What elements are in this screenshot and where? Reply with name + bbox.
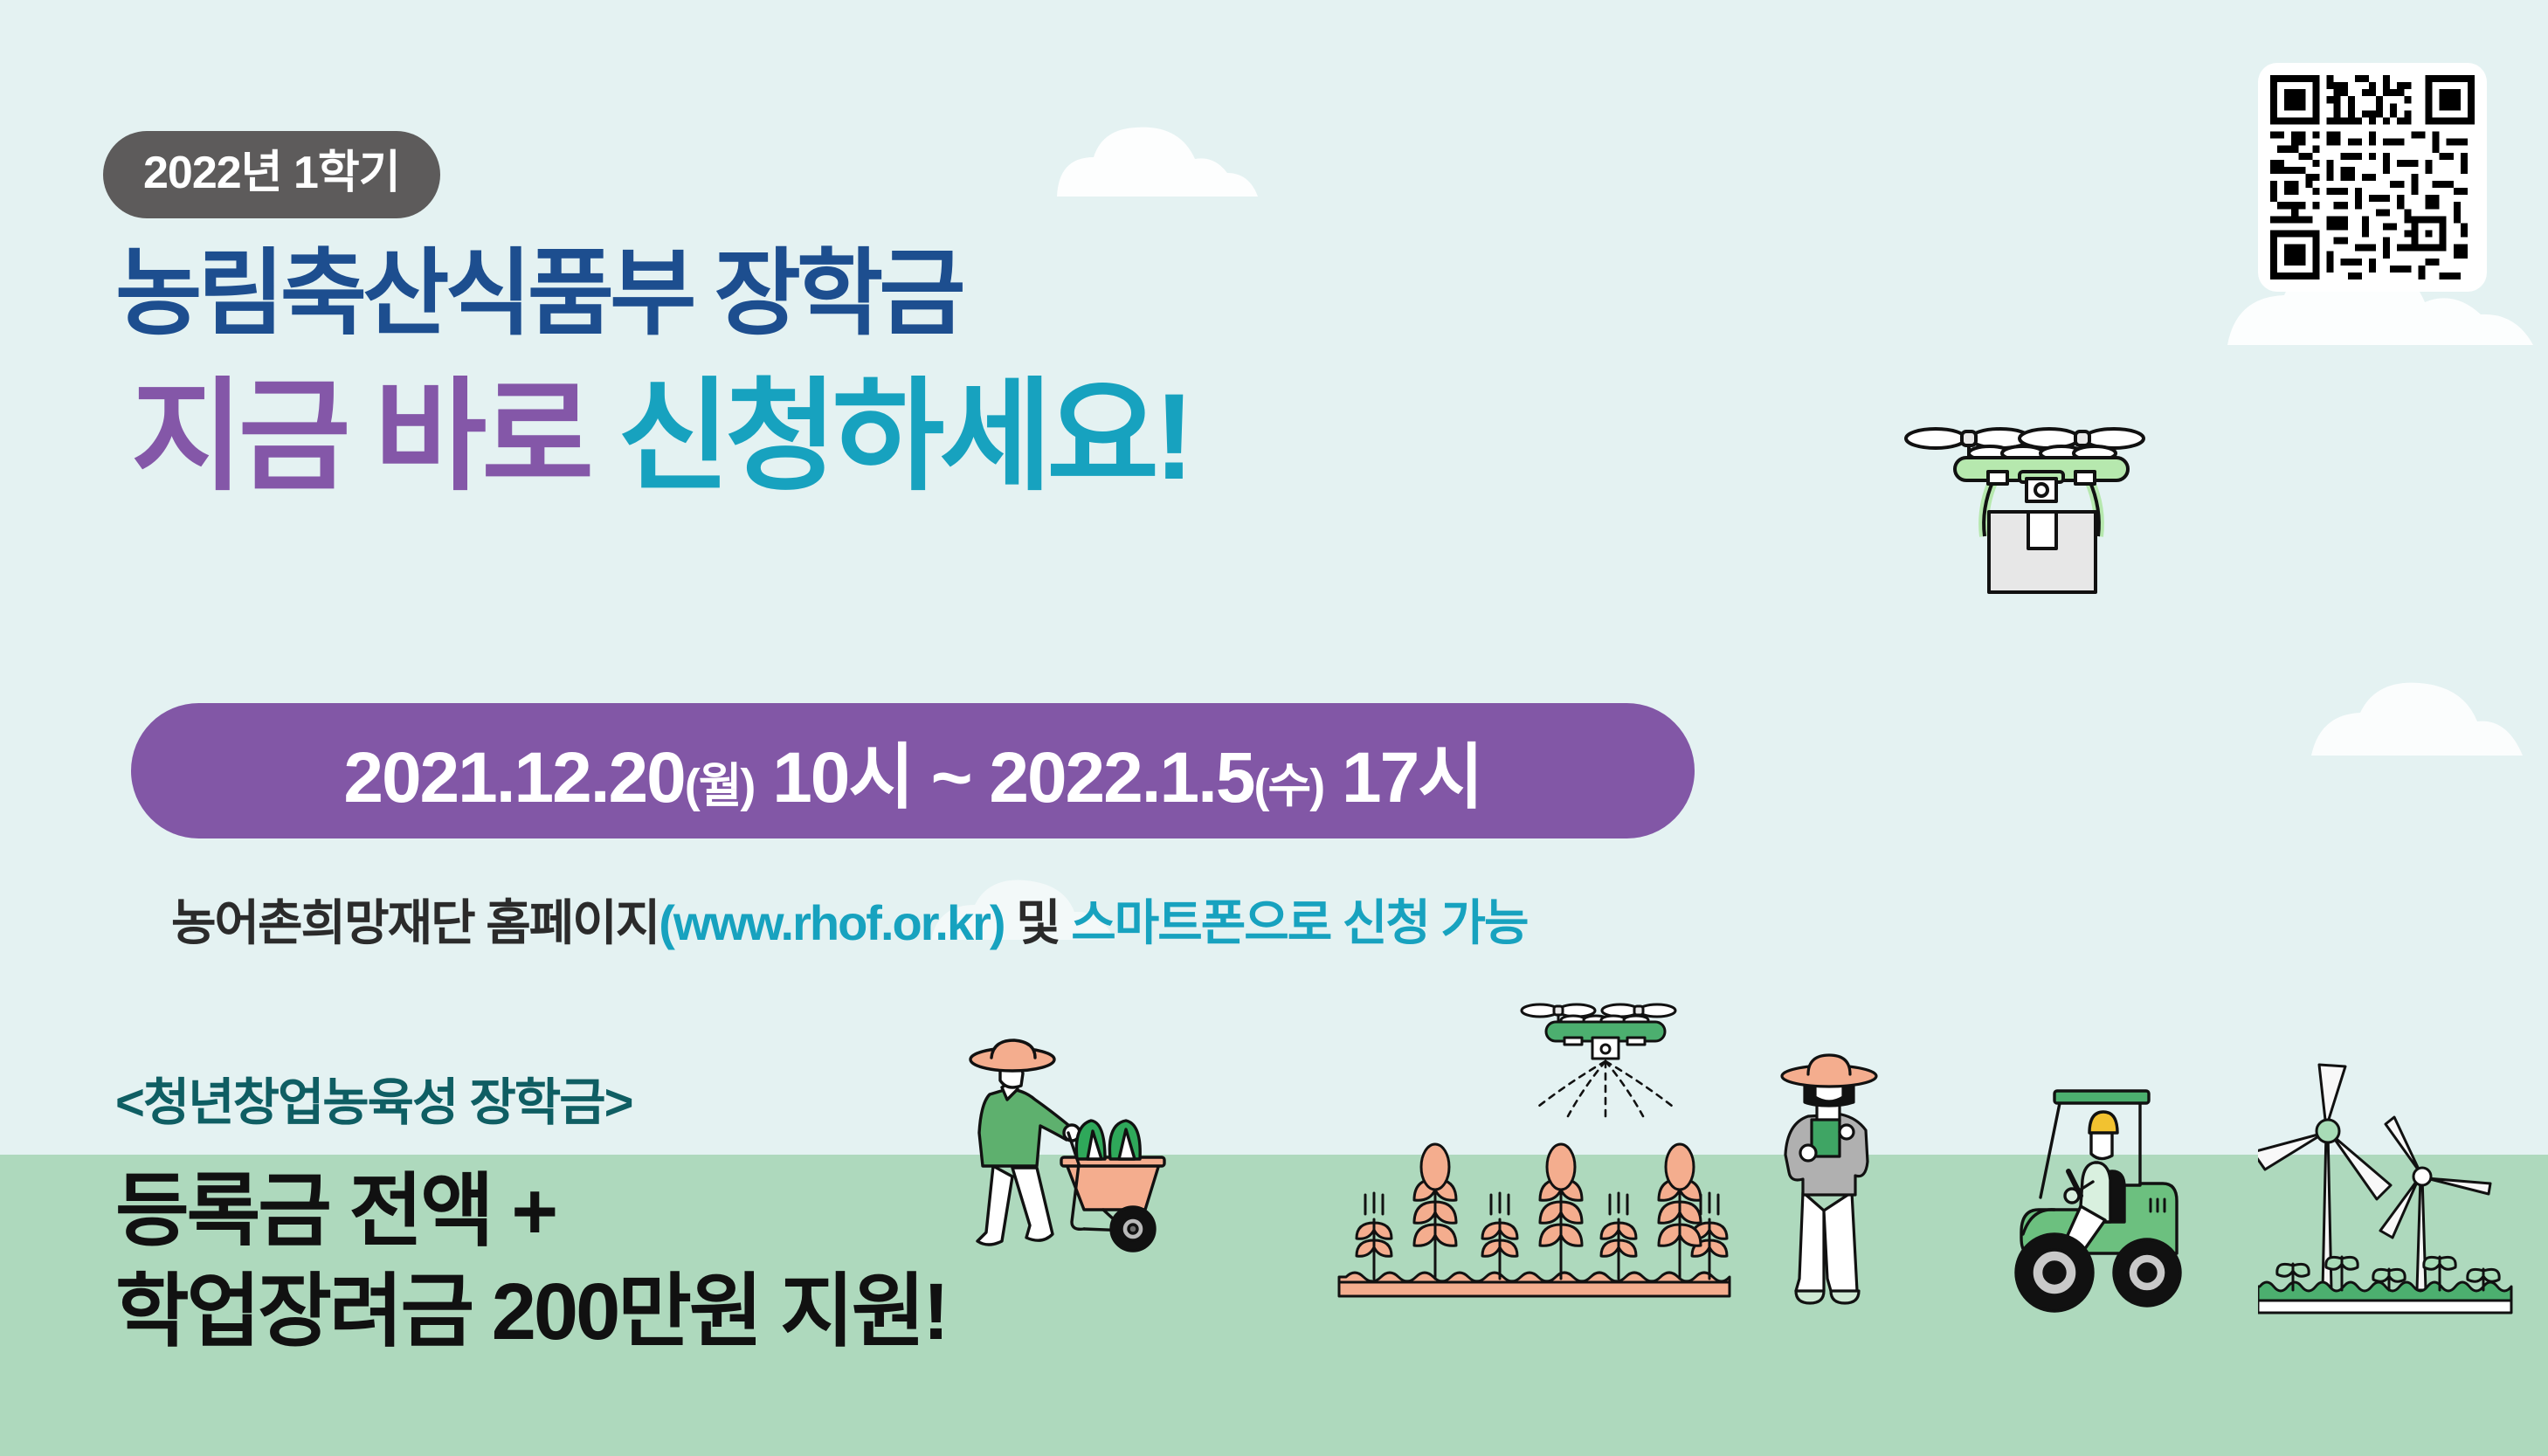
date-end-time: 17시 — [1342, 738, 1482, 818]
date-start-weekday: (월) — [685, 760, 755, 812]
apply-middle: 및 — [1005, 895, 1072, 950]
headline-line-2-part-1: 지금 바로 — [131, 368, 618, 505]
application-period-pill: 2021.12.20(월) 10시 ~ 2022.1.5(수) 17시 — [131, 703, 1695, 838]
date-start-time: 10시 — [772, 738, 913, 818]
qr-code-matrix — [2270, 75, 2475, 279]
tractor-icon — [2000, 1079, 2271, 1341]
headline-line-2-part-2: 신청하세요! — [618, 368, 1190, 505]
crop-field-with-spraying-drone-icon — [1306, 961, 1760, 1310]
date-separator: ~ — [931, 738, 971, 818]
person-with-tablet-icon — [1773, 1048, 1974, 1336]
scholarship-name: <청년창업농육성 장학금> — [115, 1061, 632, 1135]
qr-code-icon[interactable] — [2258, 63, 2487, 292]
date-start: 2021.12.20 — [343, 738, 684, 818]
apply-prefix: 농어촌희망재단 홈페이지 — [171, 895, 659, 950]
benefit-line-1: 등록금 전액 + — [115, 1162, 947, 1262]
benefit-line-2: 학업장려금 200만원 지원! — [115, 1262, 947, 1363]
date-end: 2022.1.5 — [989, 738, 1253, 818]
apply-suffix: 스마트폰으로 신청 가능 — [1071, 895, 1527, 950]
poster-root: 2022년 1학기 농림축산식품부 장학금 지금 바로 신청하세요! 2021.… — [0, 0, 2548, 1456]
application-period-text: 2021.12.20(월) 10시 ~ 2022.1.5(수) 17시 — [343, 719, 1481, 823]
headline-line-2: 지금 바로 신청하세요! — [131, 376, 1190, 498]
farmer-with-wheelbarrow-icon — [939, 1035, 1236, 1262]
date-end-weekday: (수) — [1254, 760, 1324, 812]
apply-url[interactable]: (www.rhof.or.kr) — [659, 895, 1004, 950]
semester-badge: 2022년 1학기 — [103, 131, 440, 218]
wind-farm-icon — [2258, 1061, 2546, 1358]
benefit-block: 등록금 전액 + 학업장려금 200만원 지원! — [115, 1162, 947, 1363]
apply-channel-line: 농어촌희망재단 홈페이지(www.rhof.or.kr) 및 스마트폰으로 신청… — [171, 884, 1528, 955]
delivery-drone-icon — [1878, 402, 2166, 620]
headline-line-1: 농림축산식품부 장학금 — [115, 246, 962, 341]
